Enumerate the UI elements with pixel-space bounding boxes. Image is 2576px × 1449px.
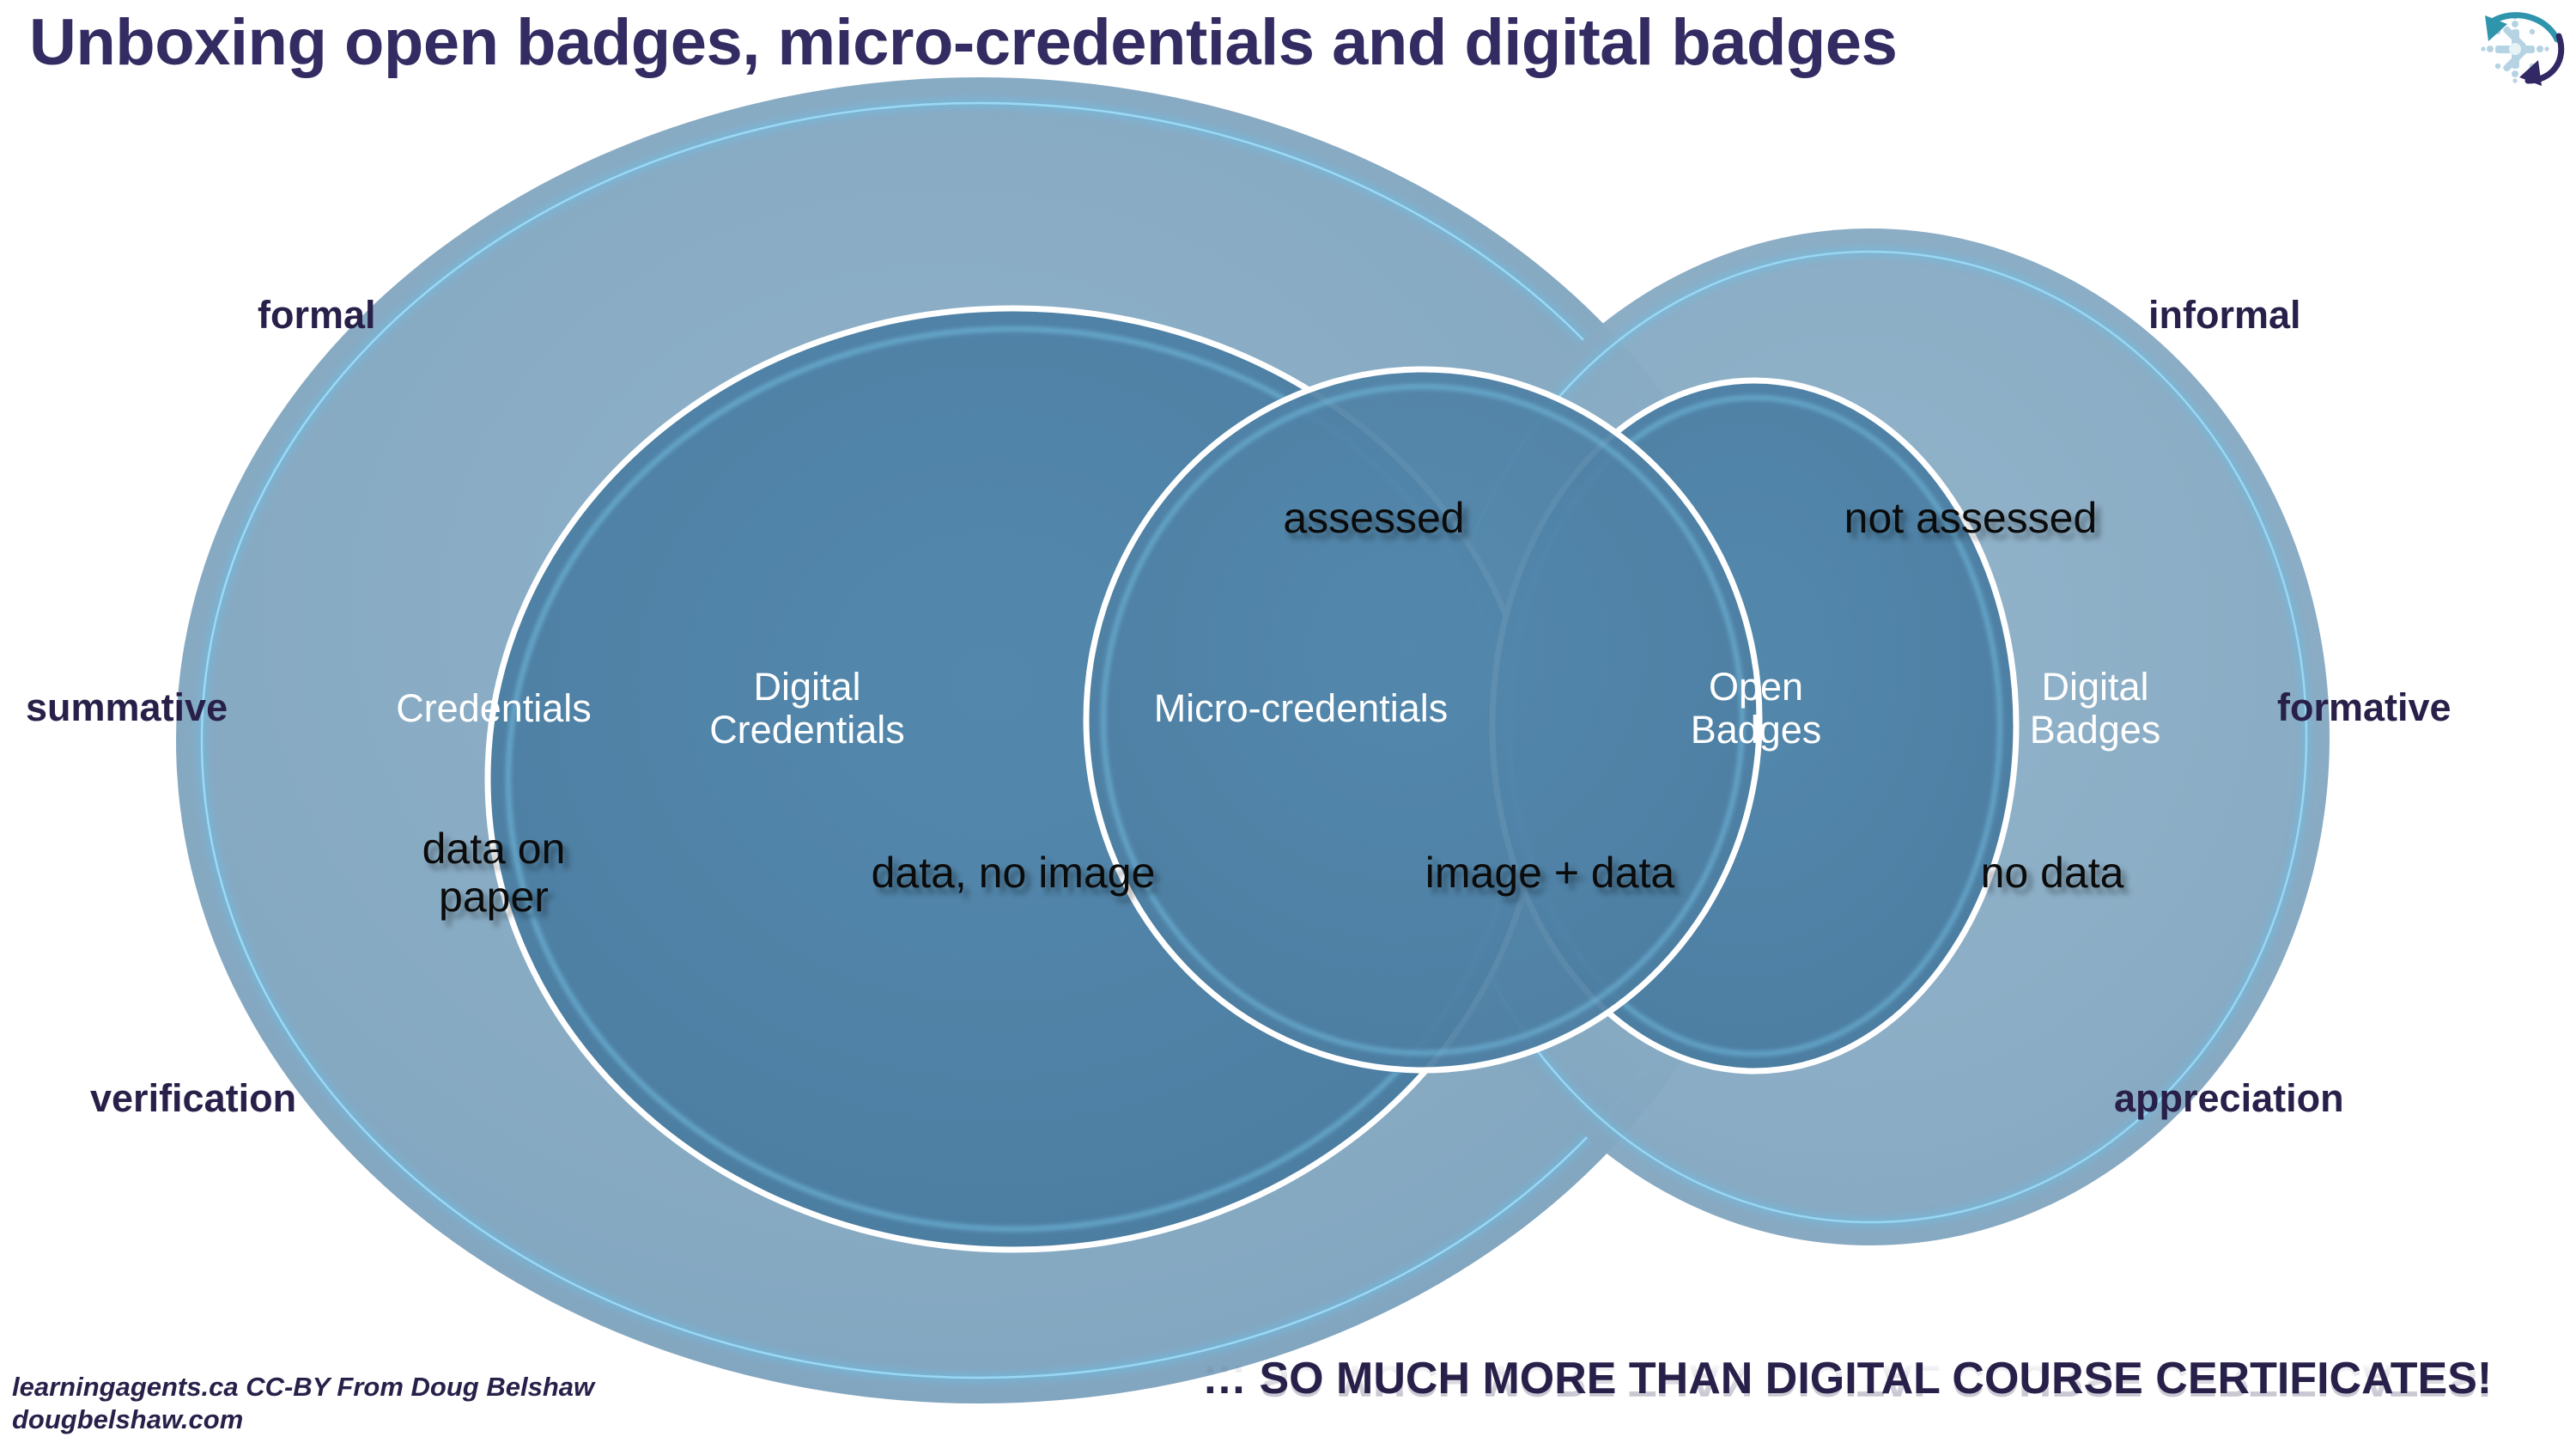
axis-label-appreciation: appreciation [2114,1078,2344,1119]
tagline-block: … SO MUCH MORE THAN DIGITAL COURSE CERTI… [1202,1353,2576,1449]
circle-label-digital-credentials: Digital Credentials [678,666,936,752]
circle-label-credentials: Credentials [369,687,618,730]
annotation-data-on-paper-line1: data on [369,825,618,873]
axis-label-formal: formal [258,295,376,336]
circle-label-digital-badges-line2: Badges [1975,709,2215,752]
axis-label-summative: summative [26,687,228,728]
annotation-assessed: assessed [1254,494,1494,542]
circle-label-open-badges-line1: Open [1636,666,1876,709]
circle-label-open-badges-line2: Badges [1636,709,1876,752]
tagline-reflection: … SO MUCH MORE THAN DIGITAL COURSE CERTI… [1202,1355,2492,1406]
circle-label-digital-badges-line1: Digital [1975,666,2215,709]
annotation-no-data: no data [1932,849,2172,897]
annotation-image-plus-data: image + data [1378,849,1722,897]
credit-block: learningagents.ca CC-BY From Doug Belsha… [12,1371,594,1436]
annotation-data-no-image: data, no image [820,849,1206,897]
slide-canvas: Unboxing open badges, micro-credentials … [0,0,2576,1449]
circle-label-digital-credentials-line2: Credentials [678,709,936,752]
circle-label-digital-credentials-line1: Digital [678,666,936,709]
circle-label-digital-badges: Digital Badges [1975,666,2215,752]
circle-label-open-badges: Open Badges [1636,666,1876,752]
axis-label-formative: formative [2277,687,2451,728]
axis-label-informal: informal [2148,295,2301,336]
axis-label-verification: verification [90,1078,296,1119]
circle-label-micro-credentials: Micro-credentials [1086,687,1516,730]
credit-line-2: dougbelshaw.com [12,1403,594,1436]
credit-line-1: learningagents.ca CC-BY From Doug Belsha… [12,1371,594,1403]
annotation-not-assessed: not assessed [1799,494,2142,542]
annotation-data-on-paper-line2: paper [369,873,618,921]
annotation-data-on-paper: data on paper [369,825,618,921]
